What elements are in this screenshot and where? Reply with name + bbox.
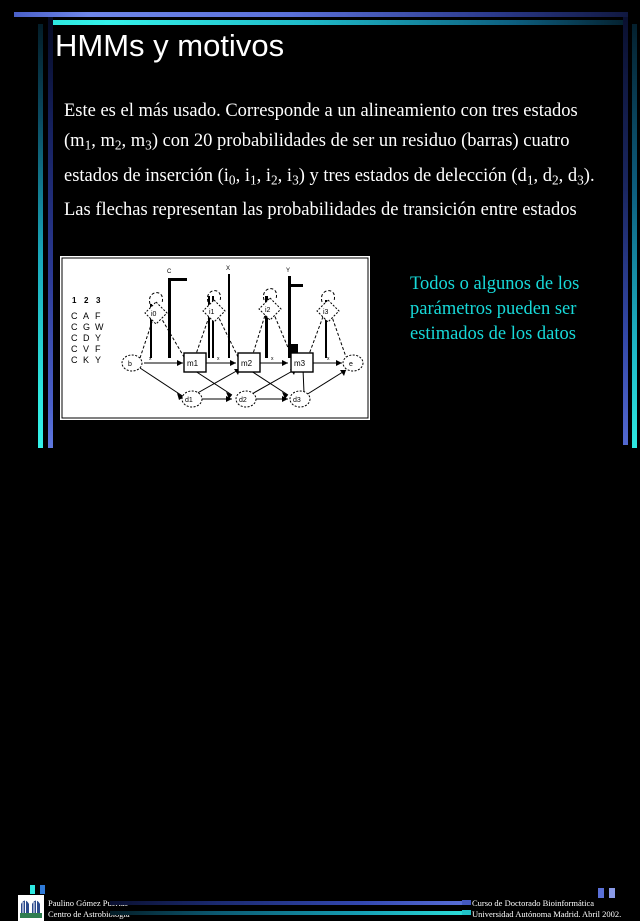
svg-text:i3: i3 [323, 309, 329, 316]
footer-course-name: Curso de Doctorado Bioinformática [472, 898, 621, 909]
svg-text:C: C [71, 355, 78, 365]
svg-text:V: V [83, 344, 89, 354]
delete-state-d2: d2 [236, 391, 256, 407]
decoration-left-blue-bar [48, 17, 53, 448]
svg-text:i2: i2 [265, 307, 271, 314]
footer-topright-blue-tick [598, 888, 604, 898]
slide-footer: Paulino Gómez Puertas Centro de Astrobio… [0, 448, 640, 480]
match-state-m1: m1 [184, 353, 206, 372]
svg-text:C: C [71, 344, 78, 354]
svg-text:G: G [83, 322, 90, 332]
svg-text:Y: Y [286, 268, 290, 274]
svg-text:F: F [95, 311, 101, 321]
begin-state-b: b [122, 355, 142, 371]
delete-state-d1: d1 [182, 391, 202, 407]
svg-text:X: X [226, 266, 230, 272]
svg-text:m3: m3 [294, 359, 306, 368]
match-state-m3: m3 [291, 353, 313, 372]
svg-text:W: W [95, 322, 104, 332]
institution-logo [18, 895, 44, 921]
svg-text:d2: d2 [239, 397, 247, 404]
svg-text:m1: m1 [187, 359, 199, 368]
decoration-top-cyan-bar [50, 20, 628, 25]
footer-topright-light-tick [609, 888, 615, 898]
footer-course-block: Curso de Doctorado Bioinformática Univer… [472, 898, 621, 920]
footer-corner-blue-tick [40, 885, 45, 894]
svg-text:i1: i1 [209, 309, 215, 316]
slide: HMMs y motivos Este es el más usado. Cor… [0, 0, 640, 480]
footer-corner-cyan-tick [30, 885, 35, 894]
svg-text:A: A [83, 311, 89, 321]
svg-text:C: C [71, 322, 78, 332]
match-state-m2: m2 [238, 353, 260, 372]
svg-text:d3: d3 [293, 397, 301, 404]
delete-state-d3: d3 [290, 391, 310, 407]
svg-text:C: C [71, 333, 78, 343]
decoration-top-blue-bar [14, 12, 628, 17]
body-paragraph: Este es el más usado. Corresponde a un a… [64, 96, 596, 225]
alignment-rows: CAF CGW CDY CVF CKY [71, 311, 104, 365]
svg-text:3: 3 [96, 296, 101, 305]
svg-text:F: F [95, 344, 101, 354]
svg-text:Y: Y [95, 333, 101, 343]
footer-blue-tick [462, 900, 471, 905]
alignment-column-headers: 123 [72, 296, 101, 305]
footer-cyan-rule [110, 911, 470, 915]
footer-cyan-tick [462, 910, 471, 915]
svg-text:D: D [83, 333, 90, 343]
svg-text:i0: i0 [151, 311, 157, 318]
decoration-left-cyan-bar [38, 24, 43, 448]
page-title: HMMs y motivos [55, 28, 284, 64]
svg-text:e: e [349, 361, 353, 368]
end-state-e: e [343, 355, 363, 371]
footer-institution: Universidad Autónoma Madrid. Abril 2002. [472, 909, 621, 920]
side-note-text: Todos o algunos de los parámetros pueden… [410, 272, 590, 347]
svg-text:C: C [167, 269, 172, 275]
svg-text:1: 1 [72, 296, 77, 305]
footer-blue-rule [110, 901, 470, 905]
decoration-right-blue-bar [623, 17, 628, 445]
svg-text:b: b [128, 361, 132, 368]
svg-text:d1: d1 [185, 397, 193, 404]
svg-text:Y: Y [95, 355, 101, 365]
svg-text:m2: m2 [241, 359, 253, 368]
decoration-right-cyan-bar [632, 24, 637, 448]
svg-text:K: K [83, 355, 89, 365]
svg-text:2: 2 [84, 296, 89, 305]
hmm-architecture-figure: 123 CAF CGW CDY CVF CKY C X [60, 256, 370, 420]
svg-text:C: C [71, 311, 78, 321]
